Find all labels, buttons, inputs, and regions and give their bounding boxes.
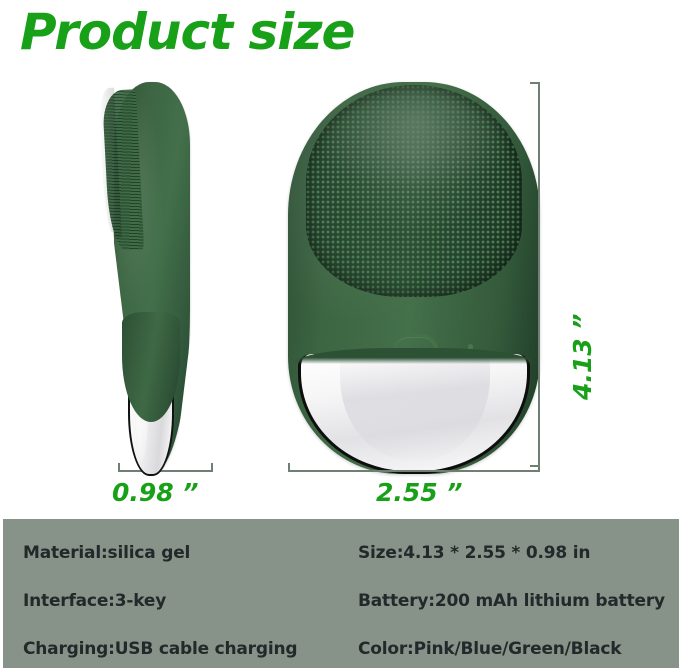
- specification-panel: Material:silica gel Size:4.13 * 2.55 * 0…: [3, 519, 679, 668]
- spec-size: Size:4.13 * 2.55 * 0.98 in: [358, 543, 590, 563]
- dimension-tick-left-width-side: [118, 463, 120, 471]
- bristle-dome-rim: [306, 85, 522, 297]
- dimension-label-width-side: 0.98 ”: [112, 478, 199, 507]
- specification-grid: Material:silica gel Size:4.13 * 2.55 * 0…: [3, 519, 679, 668]
- dimension-line-width-side: [118, 470, 213, 472]
- dimension-tick-bottom-height-front: [530, 465, 540, 467]
- product-front-view: [288, 82, 540, 474]
- dimension-tick-left-width-front: [288, 463, 290, 471]
- spec-battery: Battery:200 mAh lithium battery: [358, 591, 665, 611]
- spec-interface: Interface:3-key: [23, 591, 166, 611]
- spec-material: Material:silica gel: [23, 543, 190, 563]
- spec-color: Color:Pink/Blue/Green/Black: [358, 639, 621, 659]
- dimension-label-height-front: 4.13 ”: [568, 314, 597, 401]
- dimension-line-height-front: [538, 82, 540, 467]
- product-size-infographic: Product size: [0, 0, 679, 668]
- spec-charging: Charging:USB cable charging: [23, 639, 297, 659]
- product-illustration-stage: 0.98 ” 2.55 ” 4.13 ”: [0, 70, 679, 510]
- page-title: Product size: [20, 2, 354, 62]
- dimension-line-width-front: [288, 470, 540, 472]
- dimension-tick-right-width-side: [211, 463, 213, 471]
- dimension-label-width-front: 2.55 ”: [376, 478, 463, 507]
- dimension-tick-top-height-front: [530, 82, 540, 84]
- product-side-view: [100, 82, 220, 474]
